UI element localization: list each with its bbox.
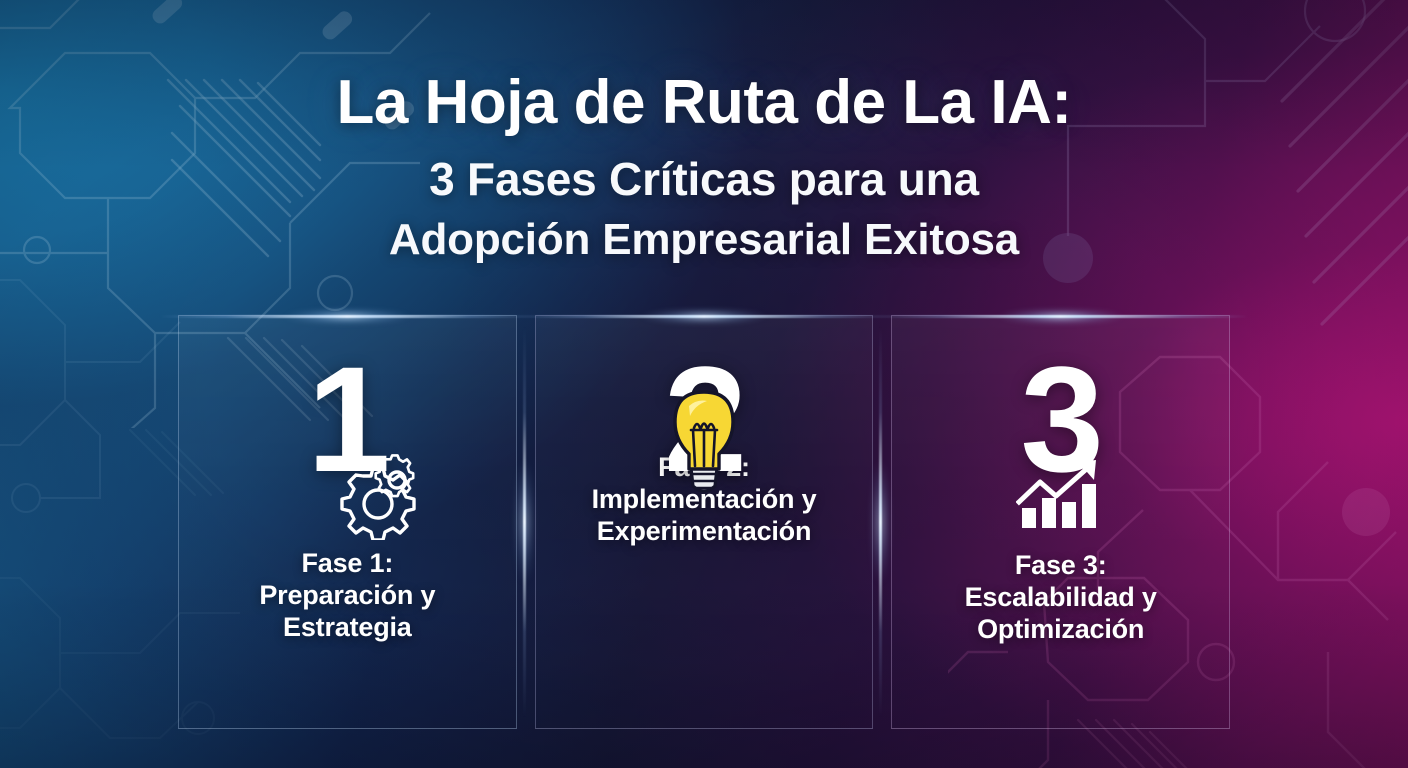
phase-caption-line-1: Fase 3: [965,550,1157,582]
phase-caption-line-3: Experimentación [592,516,817,548]
phase-caption-line-2: Escalabilidad y [965,582,1157,614]
phase-caption-line-2: Preparación y [259,580,435,612]
card-side-beam [879,326,882,718]
card-top-glow [159,315,536,318]
infographic-slide: La Hoja de Ruta de La IA: 3 Fases Crític… [0,0,1408,768]
phase-caption-line-3: Optimización [965,614,1157,646]
card-side-beam [523,326,526,718]
card-top-glow [872,315,1249,318]
page-subtitle-line-2: Adopción Empresarial Exitosa [0,218,1408,262]
page-title: La Hoja de Ruta de La IA: [0,72,1408,134]
phase-card-2[interactable]: 2 [535,315,874,729]
phase-card-3[interactable]: 3 Fase 3: Escalabilidad [891,315,1230,729]
growth-chart-icon [1016,458,1106,530]
headline-block: La Hoja de Ruta de La IA: 3 Fases Crític… [0,72,1408,262]
gears-icon [325,452,433,540]
phase-card-row: 1 Fase 1: Preparación y Estrategia [178,315,1230,729]
phase-caption-line-1: Fase 1: [259,548,435,580]
phase-card-1[interactable]: 1 Fase 1: Preparación y Estrategia [178,315,517,729]
page-subtitle-line-1: 3 Fases Críticas para una [0,156,1408,202]
card-top-glow [515,315,892,318]
lightbulb-icon [661,390,747,502]
phase-caption-line-3: Estrategia [259,612,435,644]
